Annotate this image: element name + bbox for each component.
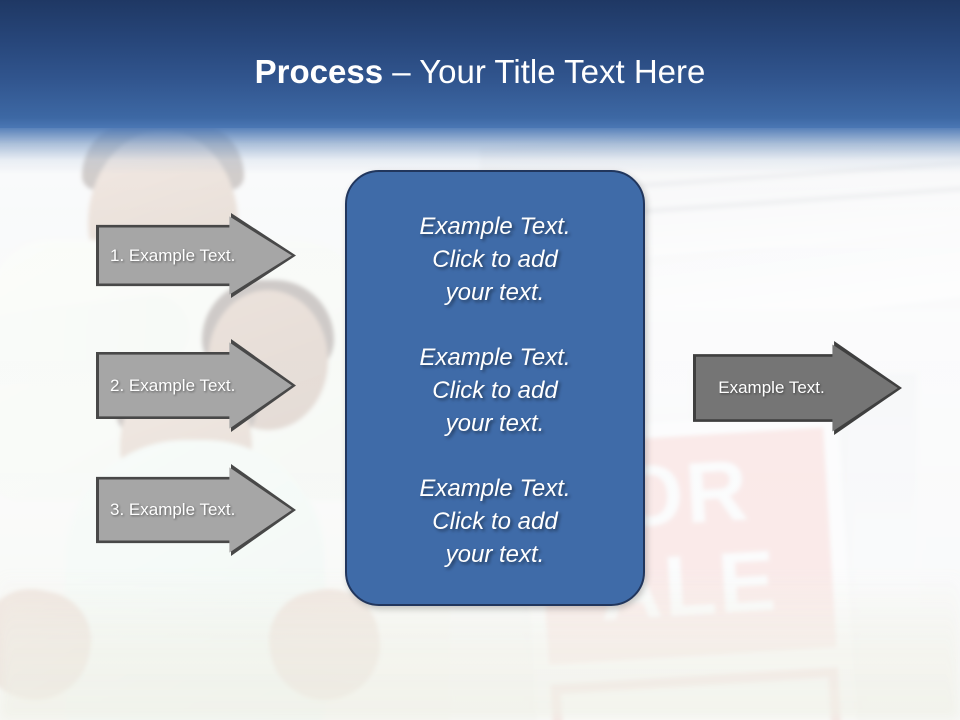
result-arrow[interactable]: Example Text. xyxy=(693,341,902,435)
result-arrow-label: Example Text. xyxy=(693,378,902,398)
paragraph-spacer xyxy=(347,309,643,341)
process-arrow-3[interactable]: 3. Example Text. xyxy=(96,464,296,556)
process-arrow-2-label: 2. Example Text. xyxy=(96,376,296,396)
page-title-regular: – Your Title Text Here xyxy=(383,53,705,90)
center-paragraph-1: Example Text. Click to add your text. xyxy=(347,210,643,309)
slide-canvas: ORALE Process – Your Title Text Here xyxy=(0,0,960,720)
process-arrow-1-label: 1. Example Text. xyxy=(96,246,296,266)
process-arrow-3-label: 3. Example Text. xyxy=(96,500,296,520)
center-paragraph-2: Example Text. Click to add your text. xyxy=(347,341,643,440)
process-arrow-1[interactable]: 1. Example Text. xyxy=(96,213,296,298)
page-title-bold: Process xyxy=(255,53,383,90)
paragraph-spacer xyxy=(347,440,643,472)
process-arrow-2[interactable]: 2. Example Text. xyxy=(96,339,296,432)
center-paragraph-3: Example Text. Click to add your text. xyxy=(347,472,643,571)
center-content-box[interactable]: Example Text. Click to add your text. Ex… xyxy=(345,170,645,606)
page-title: Process – Your Title Text Here xyxy=(0,52,960,92)
